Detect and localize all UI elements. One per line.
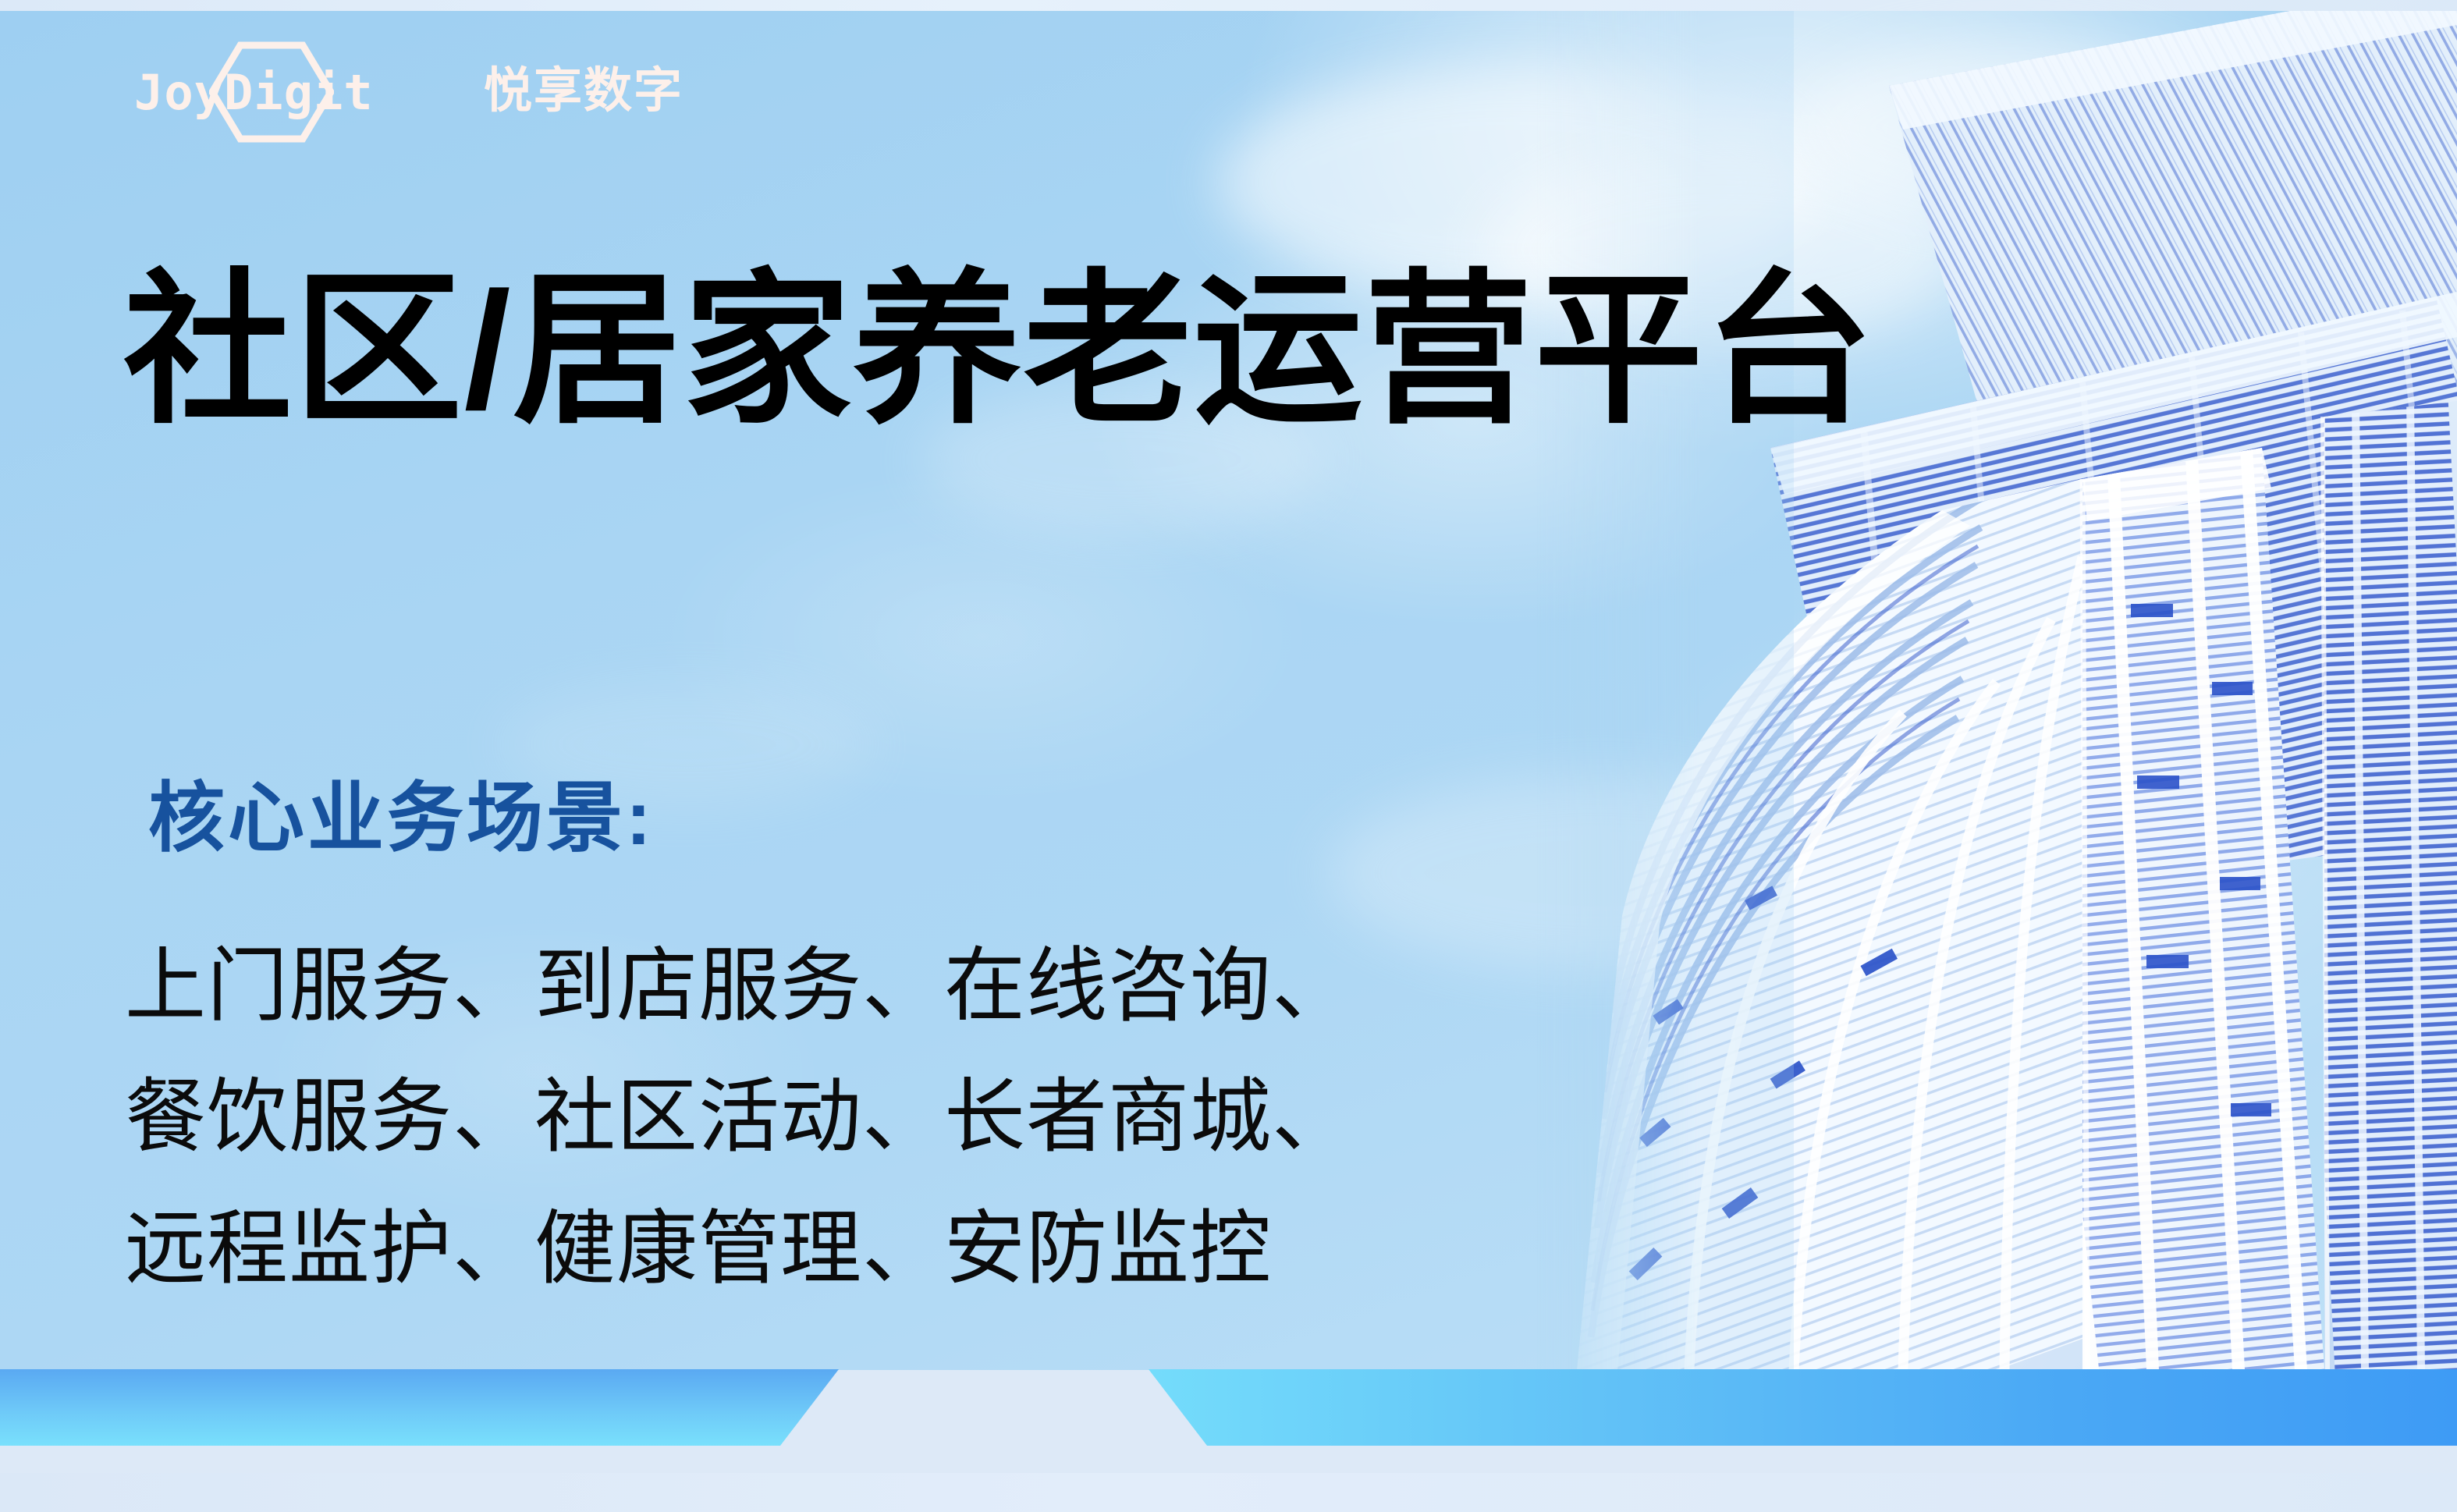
- scenario-list: 上门服务、到店服务、在线咨询、 餐饮服务、社区活动、长者商城、 远程监护、健康管…: [125, 921, 1354, 1315]
- scenario-line: 上门服务、到店服务、在线咨询、: [125, 921, 1354, 1052]
- slide-canvas: JoyDigit 悦享数字 社区/居家养老运营平台 核心业务场景: 上门服务、到…: [0, 0, 2457, 1512]
- band-shape-left: [0, 1369, 839, 1446]
- section-heading: 核心业务场景:: [148, 776, 655, 861]
- top-light-strip: [0, 0, 2457, 11]
- logo-mark: JoyDigit: [134, 48, 470, 134]
- logo-wordmark: JoyDigit: [134, 69, 374, 117]
- page-title: 社区/居家养老运营平台: [123, 257, 1875, 442]
- scenario-line: 餐饮服务、社区活动、长者商城、: [125, 1052, 1354, 1183]
- scenario-line: 远程监护、健康管理、安防监控: [125, 1184, 1354, 1315]
- bottom-decorative-band: [0, 1369, 2457, 1473]
- band-shape-right: [1149, 1369, 2457, 1446]
- skyscraper-photo: [1536, 11, 2457, 1370]
- brand-logo[interactable]: JoyDigit 悦享数字: [134, 48, 683, 134]
- bottom-light-strip: [0, 1473, 2457, 1512]
- logo-chinese-name: 悦享数字: [484, 67, 683, 115]
